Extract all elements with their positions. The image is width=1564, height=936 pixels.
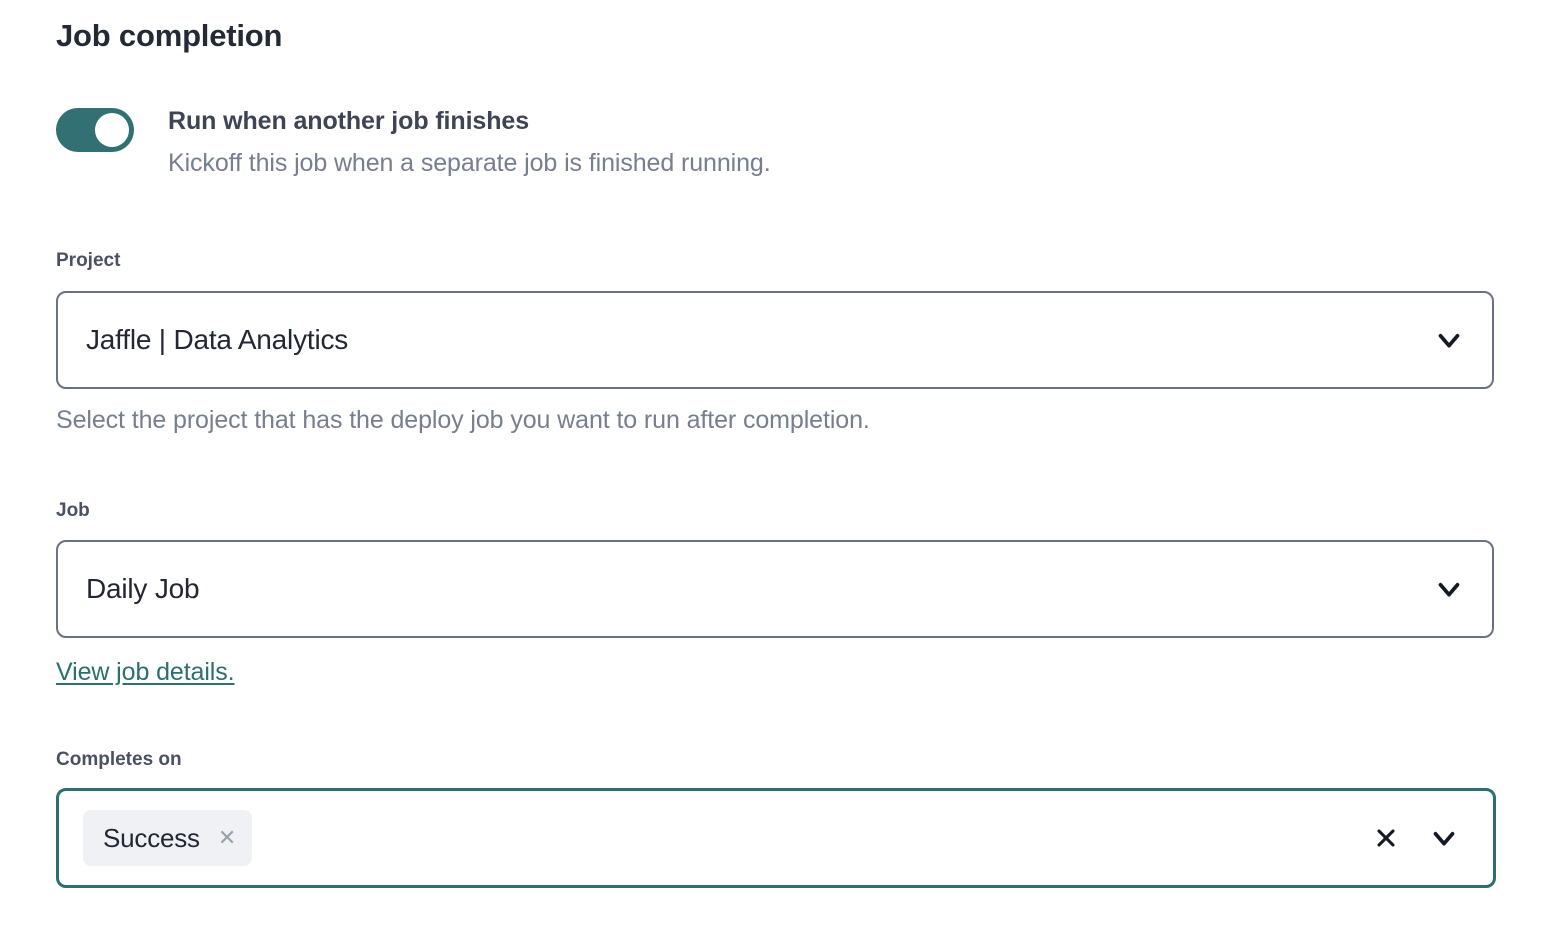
chip-label: Success [103, 825, 200, 851]
job-completion-panel: Job completion Run when another job fini… [0, 0, 1564, 936]
project-label: Project [56, 250, 120, 273]
completes-on-multiselect[interactable]: Success ✕ [56, 788, 1496, 888]
toggle-description: Kickoff this job when a separate job is … [168, 148, 771, 180]
job-select[interactable]: Daily Job [56, 540, 1494, 638]
chevron-down-icon[interactable] [1418, 323, 1480, 357]
run-when-job-finishes-row: Run when another job finishes Kickoff th… [56, 106, 771, 179]
multiselect-actions [1359, 821, 1475, 855]
completes-on-label: Completes on [56, 749, 182, 772]
completes-on-chip-list: Success ✕ [59, 810, 1359, 866]
view-job-details-link[interactable]: View job details. [56, 657, 235, 689]
project-select[interactable]: Jaffle | Data Analytics [56, 291, 1494, 389]
close-icon[interactable]: ✕ [218, 827, 236, 849]
chip-success[interactable]: Success ✕ [83, 810, 252, 866]
chevron-down-icon[interactable] [1418, 572, 1480, 606]
toggle-label: Run when another job finishes [168, 106, 771, 138]
page-title: Job completion [56, 16, 282, 56]
project-helper-text: Select the project that has the deploy j… [56, 405, 870, 437]
job-select-value: Daily Job [58, 572, 1418, 606]
run-when-job-finishes-toggle[interactable] [56, 108, 134, 152]
job-label: Job [56, 500, 90, 523]
project-select-value: Jaffle | Data Analytics [58, 323, 1418, 357]
clear-icon[interactable] [1359, 824, 1413, 852]
toggle-knob [95, 113, 129, 147]
chevron-down-icon[interactable] [1413, 821, 1475, 855]
toggle-text-group: Run when another job finishes Kickoff th… [168, 106, 771, 179]
